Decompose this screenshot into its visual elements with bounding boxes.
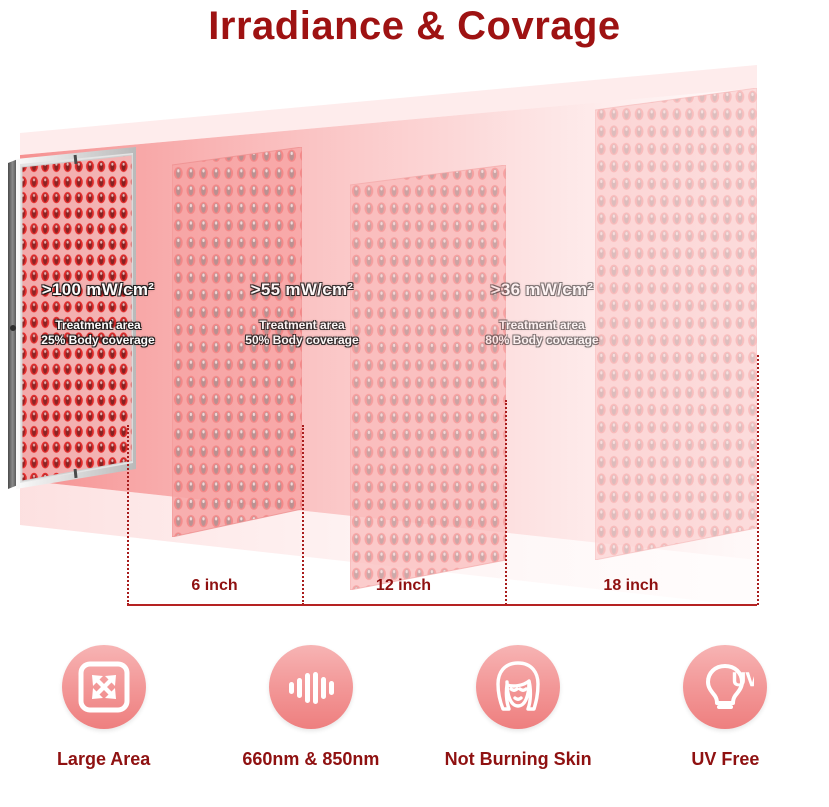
uv-bulb-icon: UV — [696, 658, 754, 716]
feature-uv-free: UV UV Free — [622, 645, 829, 807]
feature-large-area-label: Large Area — [57, 749, 150, 770]
distance-label-6in: 6 inch — [127, 577, 302, 595]
feature-large-area-badge — [62, 645, 146, 729]
feature-wavelength-badge — [269, 645, 353, 729]
distance-label-12in: 12 inch — [302, 577, 505, 595]
feature-not-burning-skin-label: Not Burning Skin — [445, 749, 592, 770]
distance-label-18in: 18 inch — [505, 577, 757, 595]
tick-12in — [505, 400, 507, 605]
distance-ruler: 6 inch 12 inch 18 inch — [0, 425, 829, 607]
feature-not-burning-skin: Not Burning Skin — [415, 645, 622, 807]
feature-row: Large Area 660nm & 850nm — [0, 645, 829, 807]
feature-large-area: Large Area — [0, 645, 207, 807]
tick-18in — [757, 355, 759, 605]
feature-uv-free-badge: UV — [683, 645, 767, 729]
feature-wavelength: 660nm & 850nm — [207, 645, 414, 807]
expand-arrows-icon — [76, 659, 132, 715]
face-icon — [489, 658, 547, 716]
feature-not-burning-skin-badge — [476, 645, 560, 729]
svg-text:UV: UV — [732, 670, 754, 691]
feature-wavelength-label: 660nm & 850nm — [242, 749, 379, 770]
page-title: Irradiance & Covrage — [0, 4, 829, 49]
feature-uv-free-label: UV Free — [691, 749, 759, 770]
wavelength-bars-icon — [283, 659, 339, 715]
ruler-baseline — [127, 604, 757, 606]
